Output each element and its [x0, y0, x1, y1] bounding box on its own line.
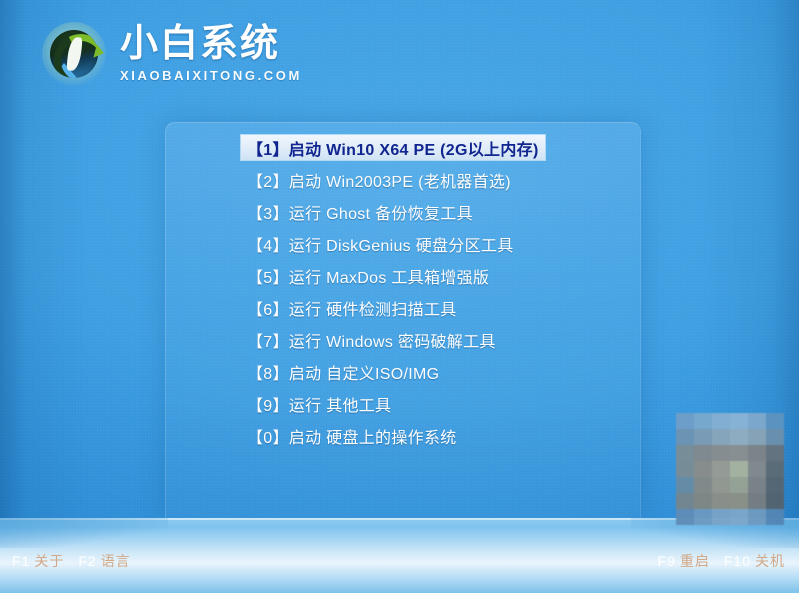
mosaic-cell [730, 429, 748, 445]
boot-menu-list[interactable]: 【1】启动 Win10 X64 PE (2G以上内存)【2】启动 Win2003… [241, 135, 545, 455]
mosaic-cell [766, 445, 784, 461]
mosaic-cell [730, 413, 748, 429]
mosaic-cell [676, 493, 694, 509]
mosaic-cell [748, 445, 766, 461]
brand-subtitle: XIAOBAIXITONG.COM [120, 68, 302, 83]
mosaic-cell [766, 509, 784, 525]
menu-item-5[interactable]: 【5】运行 MaxDos 工具箱增强版 [241, 263, 545, 288]
footer-hints-right: F9重启F10关机 [658, 551, 785, 571]
menu-item-label: 【4】运行 DiskGenius 硬盘分区工具 [247, 232, 514, 256]
mosaic-cell [676, 461, 694, 477]
menu-item-7[interactable]: 【7】运行 Windows 密码破解工具 [241, 327, 545, 352]
menu-item-label: 【1】启动 Win10 X64 PE (2G以上内存) [247, 136, 539, 160]
mosaic-cell [712, 429, 730, 445]
mosaic-cell [730, 461, 748, 477]
mosaic-cell [766, 477, 784, 493]
mosaic-cell [766, 429, 784, 445]
footer-hints-left: F1关于F2语言 [12, 551, 131, 571]
menu-item-label: 【9】运行 其他工具 [247, 392, 391, 416]
mosaic-cell [748, 461, 766, 477]
mosaic-cell [766, 493, 784, 509]
menu-item-9[interactable]: 【9】运行 其他工具 [241, 391, 545, 416]
brand-logo: 小白系统 XIAOBAIXITONG.COM [42, 22, 302, 86]
brand-title: 小白系统 [120, 25, 302, 65]
footer-key-f10[interactable]: F10 [724, 553, 751, 569]
xiaobai-circular-arrow-logo-icon [42, 22, 106, 86]
mosaic-cell [676, 445, 694, 461]
footer-key-f2[interactable]: F2 [78, 553, 96, 569]
footer-label-f2[interactable]: 语言 [101, 553, 131, 569]
menu-item-1[interactable]: 【1】启动 Win10 X64 PE (2G以上内存) [241, 135, 545, 160]
menu-item-label: 【8】启动 自定义ISO/IMG [247, 360, 439, 384]
censored-mosaic-block [676, 413, 784, 525]
mosaic-cell [694, 429, 712, 445]
mosaic-cell [748, 429, 766, 445]
mosaic-cell [694, 477, 712, 493]
footer-label-f1[interactable]: 关于 [34, 553, 64, 569]
mosaic-cell [712, 477, 730, 493]
mosaic-cell [712, 413, 730, 429]
mosaic-cell [676, 429, 694, 445]
menu-item-label: 【3】运行 Ghost 备份恢复工具 [247, 200, 473, 224]
menu-item-3[interactable]: 【3】运行 Ghost 备份恢复工具 [241, 199, 545, 224]
mosaic-cell [694, 509, 712, 525]
mosaic-cell [766, 461, 784, 477]
menu-item-label: 【7】运行 Windows 密码破解工具 [247, 328, 496, 352]
mosaic-cell [676, 477, 694, 493]
mosaic-cell [748, 413, 766, 429]
menu-item-6[interactable]: 【6】运行 硬件检测扫描工具 [241, 295, 545, 320]
footer-key-f1[interactable]: F1 [12, 553, 30, 569]
podium-left-wedge [0, 518, 168, 548]
menu-item-label: 【5】运行 MaxDos 工具箱增强版 [247, 264, 489, 288]
mosaic-cell [676, 509, 694, 525]
mosaic-cell [730, 477, 748, 493]
mosaic-cell [694, 493, 712, 509]
mosaic-cell [748, 493, 766, 509]
mosaic-cell [766, 413, 784, 429]
menu-item-4[interactable]: 【4】运行 DiskGenius 硬盘分区工具 [241, 231, 545, 256]
menu-item-label: 【6】运行 硬件检测扫描工具 [247, 296, 457, 320]
boot-menu-screen: 小白系统 XIAOBAIXITONG.COM 【1】启动 Win10 X64 P… [0, 0, 799, 593]
mosaic-cell [712, 493, 730, 509]
mosaic-cell [712, 509, 730, 525]
mosaic-cell [694, 413, 712, 429]
menu-item-label: 【2】启动 Win2003PE (老机器首选) [247, 168, 511, 192]
menu-item-2[interactable]: 【2】启动 Win2003PE (老机器首选) [241, 167, 545, 192]
footer-label-f9[interactable]: 重启 [680, 553, 710, 569]
mosaic-cell [712, 445, 730, 461]
mosaic-cell [694, 445, 712, 461]
menu-item-label: 【0】启动 硬盘上的操作系统 [247, 424, 457, 448]
mosaic-cell [748, 509, 766, 525]
mosaic-cell [694, 461, 712, 477]
mosaic-cell [730, 445, 748, 461]
footer-label-f10[interactable]: 关机 [755, 553, 785, 569]
footer-key-f9[interactable]: F9 [658, 553, 676, 569]
mosaic-cell [676, 413, 694, 429]
mosaic-cell [748, 477, 766, 493]
menu-item-8[interactable]: 【8】启动 自定义ISO/IMG [241, 359, 545, 384]
menu-item-0[interactable]: 【0】启动 硬盘上的操作系统 [241, 423, 545, 448]
mosaic-cell [712, 461, 730, 477]
mosaic-cell [730, 493, 748, 509]
mosaic-cell [730, 509, 748, 525]
